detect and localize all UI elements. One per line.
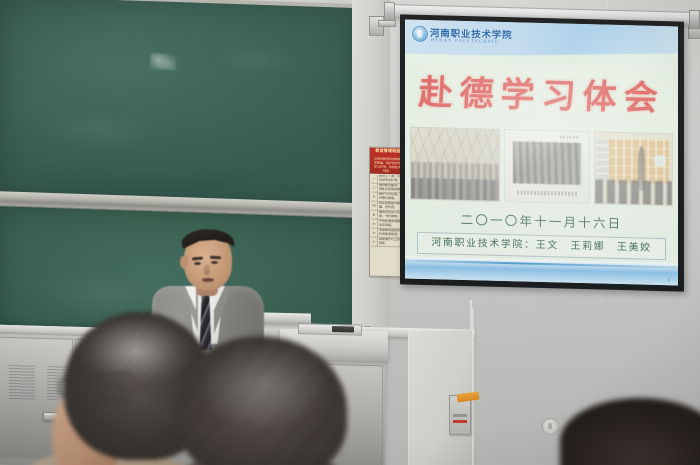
photo-left-pinboard (596, 138, 608, 180)
slide-photo-group (410, 127, 500, 202)
housing-end-left (384, 2, 395, 21)
poster-title: 教室管理制度 (375, 149, 401, 154)
presenter-eye-left (194, 262, 201, 265)
poster-row-num: 六 (371, 220, 378, 228)
poster-row-num: 七 (371, 229, 378, 237)
audience-head-right (560, 398, 700, 465)
photo-newspaper-image (513, 142, 582, 185)
presentation-slide: 河南职业技术学院 HENAN POLYTECHNIC 赴德学习体会 (405, 20, 678, 286)
chalk-smudge-1 (40, 108, 160, 152)
panel-strip-red (453, 420, 467, 423)
photo-crowd-front-row (411, 177, 499, 201)
console-device-screen (332, 326, 354, 333)
list-item: 八 自觉遵守以上各项规定。 (371, 238, 403, 248)
panel-strip-grey (453, 414, 467, 417)
photo-cloud-note (654, 155, 666, 167)
audience-head-center (175, 336, 347, 465)
slide-page-number: 1 (668, 277, 670, 282)
poster-row-num: 八 (371, 238, 378, 246)
presenter-eye-right (211, 261, 218, 264)
chalk-mark (150, 53, 176, 70)
slide-authors-line: 河南职业技术学院：王文 王莉娜 王美姣 (418, 233, 665, 258)
housing-end-right (689, 10, 700, 29)
school-seal-logo-icon (412, 26, 428, 42)
classroom-presentation-photo: 教室管理制度 为保证教学秩序和教学质量，维护良好的学习环境，特制定本制度： 一 … (0, 0, 700, 465)
photo-seated-students (595, 179, 672, 205)
presenter-nose (204, 264, 210, 275)
slide-footer-band: 1 (405, 257, 678, 286)
photo-newspaper-caption (517, 190, 577, 196)
slide-date-line: 二〇一〇年十一月十六日 (405, 208, 678, 234)
slide-photo-band (410, 127, 673, 207)
poster-row-num: 二 (371, 184, 378, 192)
poster-header: 教室管理制度 为保证教学秩序和教学质量，维护良好的学习环境，特制定本制度： (370, 148, 404, 175)
audience-center-hair (175, 336, 347, 465)
desk-vent-left (9, 365, 35, 400)
audience-right-hair (560, 398, 700, 465)
poster-row-num: 一 (371, 175, 378, 183)
presenter-ear (180, 256, 188, 269)
cabinet-door-frame (472, 308, 476, 465)
chalkboard-upper-panel (0, 0, 354, 204)
slide-title: 赴德学习体会 (405, 76, 678, 119)
audience-left-glasses-icon (58, 372, 134, 402)
slide-photo-classroom (594, 131, 673, 206)
chalk-smudge-2 (210, 43, 300, 76)
slide-footer-accent-line (405, 260, 678, 269)
poster-row-num: 四 (371, 202, 378, 210)
photo-newspaper-headline (560, 136, 578, 139)
presenter-collar-left (185, 286, 196, 310)
poster-rules-list: 一 按时上下课，不得迟到早退旷课。 二 保持教室整洁，不得乱扔纸屑杂物。 三 爱… (370, 174, 404, 248)
wall-outlet-icon[interactable] (542, 418, 559, 435)
poster-subtitle: 为保证教学秩序和教学质量，维护良好的学习环境，特制定本制度： (373, 157, 402, 174)
slide-photo-newspaper (504, 129, 590, 204)
slide-authors-box: 河南职业技术学院：王文 王莉娜 王美姣 (417, 232, 666, 260)
wall-switch-panel[interactable] (449, 395, 471, 435)
presenter-mouth (202, 278, 214, 282)
audience-center-hair-texture (175, 336, 347, 465)
projection-screen[interactable]: 河南职业技术学院 HENAN POLYTECHNIC 赴德学习体会 (400, 14, 684, 291)
poster-row-num: 五 (371, 211, 378, 219)
poster-row-num: 三 (371, 193, 378, 201)
